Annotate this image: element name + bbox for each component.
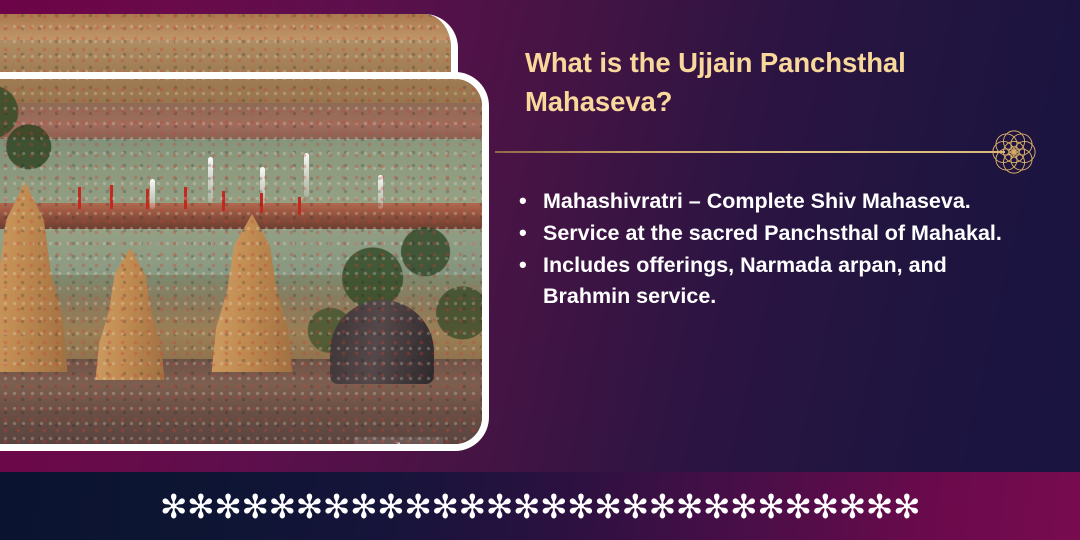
gold-rule-icon: [495, 151, 1005, 153]
slide-canvas: mpdmc. What is the Ujjain Panchsthal Mah…: [0, 0, 1080, 540]
bullet-list: Mahashivratri – Complete Shiv Mahaseva. …: [513, 186, 1033, 313]
list-item: Mahashivratri – Complete Shiv Mahaseva.: [513, 186, 1033, 217]
content-column: What is the Ujjain Panchsthal Mahaseva?: [495, 0, 1080, 470]
ghat-photo-art-main: [0, 72, 489, 444]
list-item: Service at the sacred Panchsthal of Maha…: [513, 218, 1033, 249]
star-divider-icon: ✻✻✻✻✻✻✻✻✻✻✻✻✻✻✻✻✻✻✻✻✻✻✻✻✻✻✻✻: [0, 472, 1080, 540]
photo-panel-main: mpdmc.: [0, 72, 489, 451]
mandala-rosette-icon: [990, 128, 1038, 176]
photo-watermark: mpdmc.: [354, 437, 443, 451]
list-item: Includes offerings, Narmada arpan, and B…: [513, 250, 1033, 312]
page-title: What is the Ujjain Panchsthal Mahaseva?: [525, 44, 975, 121]
photo-collage: mpdmc.: [0, 0, 500, 470]
